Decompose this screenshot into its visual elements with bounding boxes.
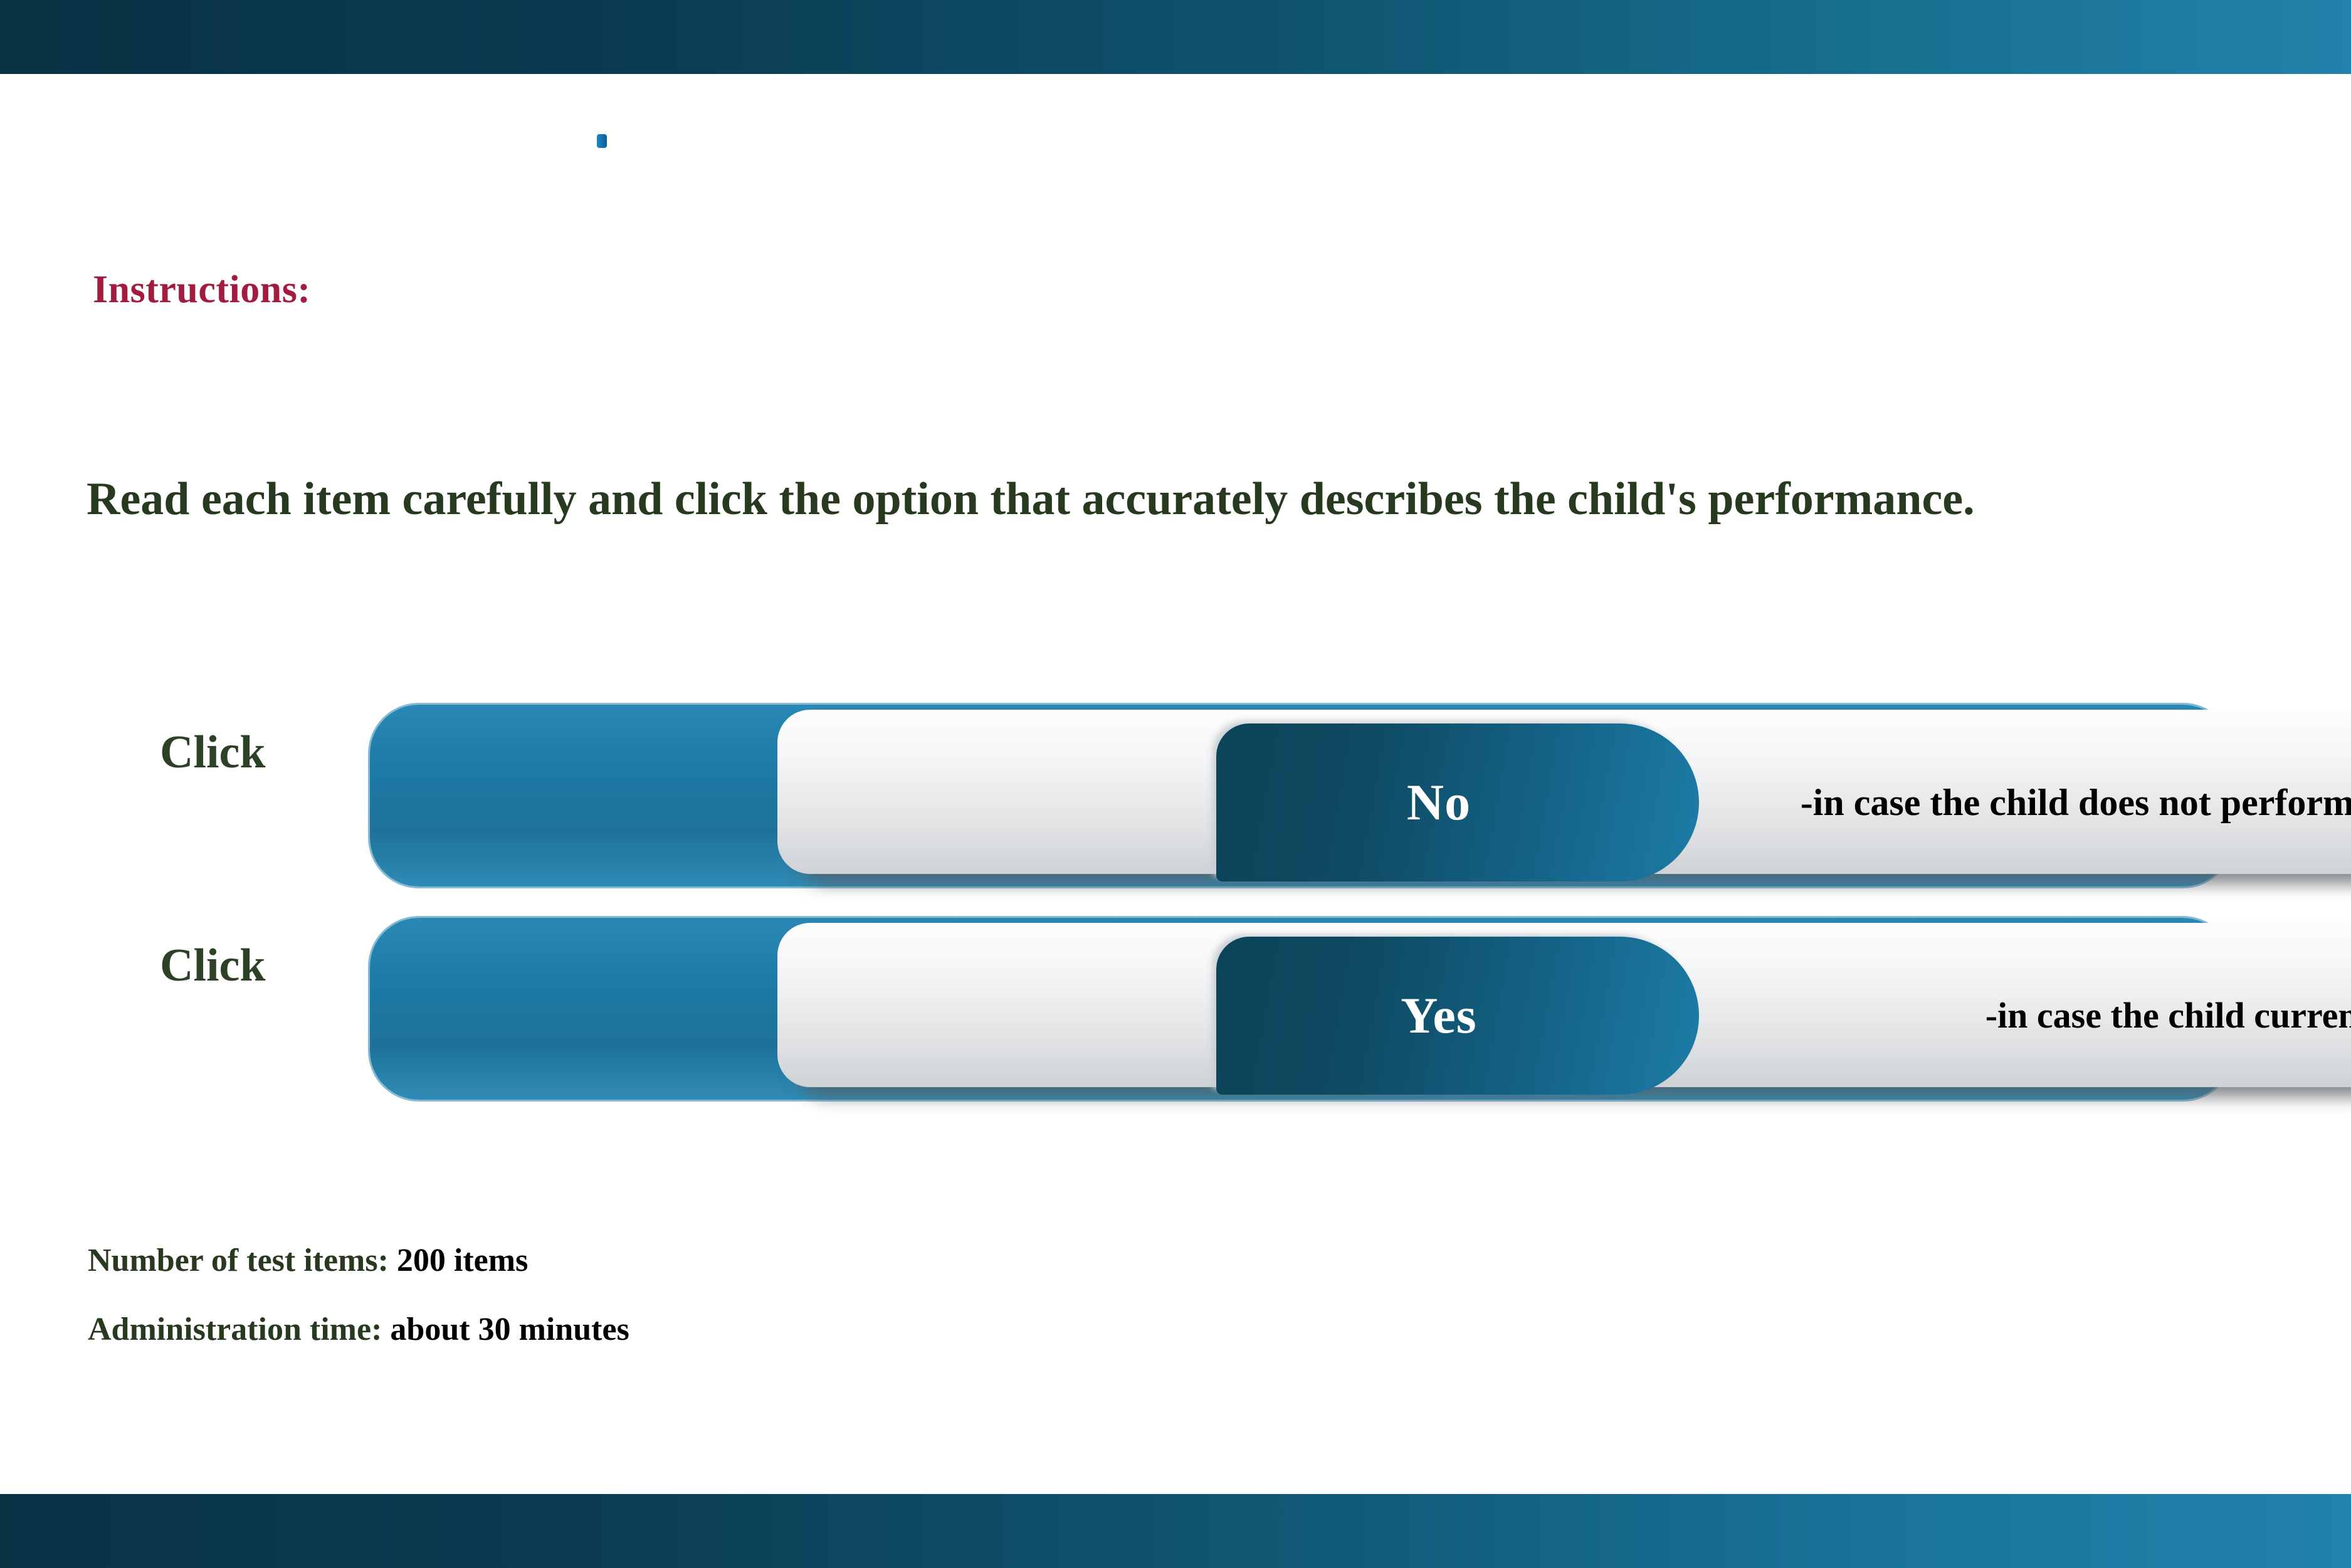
option-description-no: -in case the child does not perform the … xyxy=(1718,723,2351,881)
option-badge-no[interactable]: No xyxy=(1216,723,1699,881)
click-label-yes: Click xyxy=(160,939,266,992)
fact-key-time: Administration time: xyxy=(88,1312,382,1347)
option-plate-yes: Yes -in case the child currently perform… xyxy=(777,923,2351,1087)
option-row-no[interactable]: Click No -in case the child does not per… xyxy=(0,677,2351,884)
option-description-yes: -in case the child currently performs th… xyxy=(1718,937,2351,1095)
option-row-yes[interactable]: Click Yes -in case the child currently p… xyxy=(0,890,2351,1097)
fact-value-items: 200 items xyxy=(397,1243,528,1278)
option-badge-yes[interactable]: Yes xyxy=(1216,937,1699,1095)
option-pill-backdrop-yes: Yes -in case the child currently perform… xyxy=(370,918,2232,1100)
option-plate-no: No -in case the child does not perform t… xyxy=(777,710,2351,874)
fact-line-time: Administration time: about 30 minutes xyxy=(88,1313,629,1346)
options-list: Click No -in case the child does not per… xyxy=(0,677,2351,1116)
fact-key-items: Number of test items: xyxy=(88,1243,389,1278)
fact-value-time: about 30 minutes xyxy=(390,1312,629,1347)
option-pill-backdrop-no: No -in case the child does not perform t… xyxy=(370,705,2232,887)
blue-dot-icon xyxy=(597,134,607,148)
top-decorative-bar xyxy=(0,0,2351,74)
fact-line-items: Number of test items: 200 items xyxy=(88,1244,629,1277)
option-badge-label-no: No xyxy=(1407,773,1471,832)
page-title: Instructions: xyxy=(93,268,311,312)
bottom-decorative-bar xyxy=(0,1494,2351,1568)
intro-paragraph: Read each item carefully and click the o… xyxy=(87,470,2231,529)
test-facts: Number of test items: 200 items Administ… xyxy=(88,1244,629,1382)
click-label-no: Click xyxy=(160,726,266,779)
option-badge-label-yes: Yes xyxy=(1401,986,1476,1045)
